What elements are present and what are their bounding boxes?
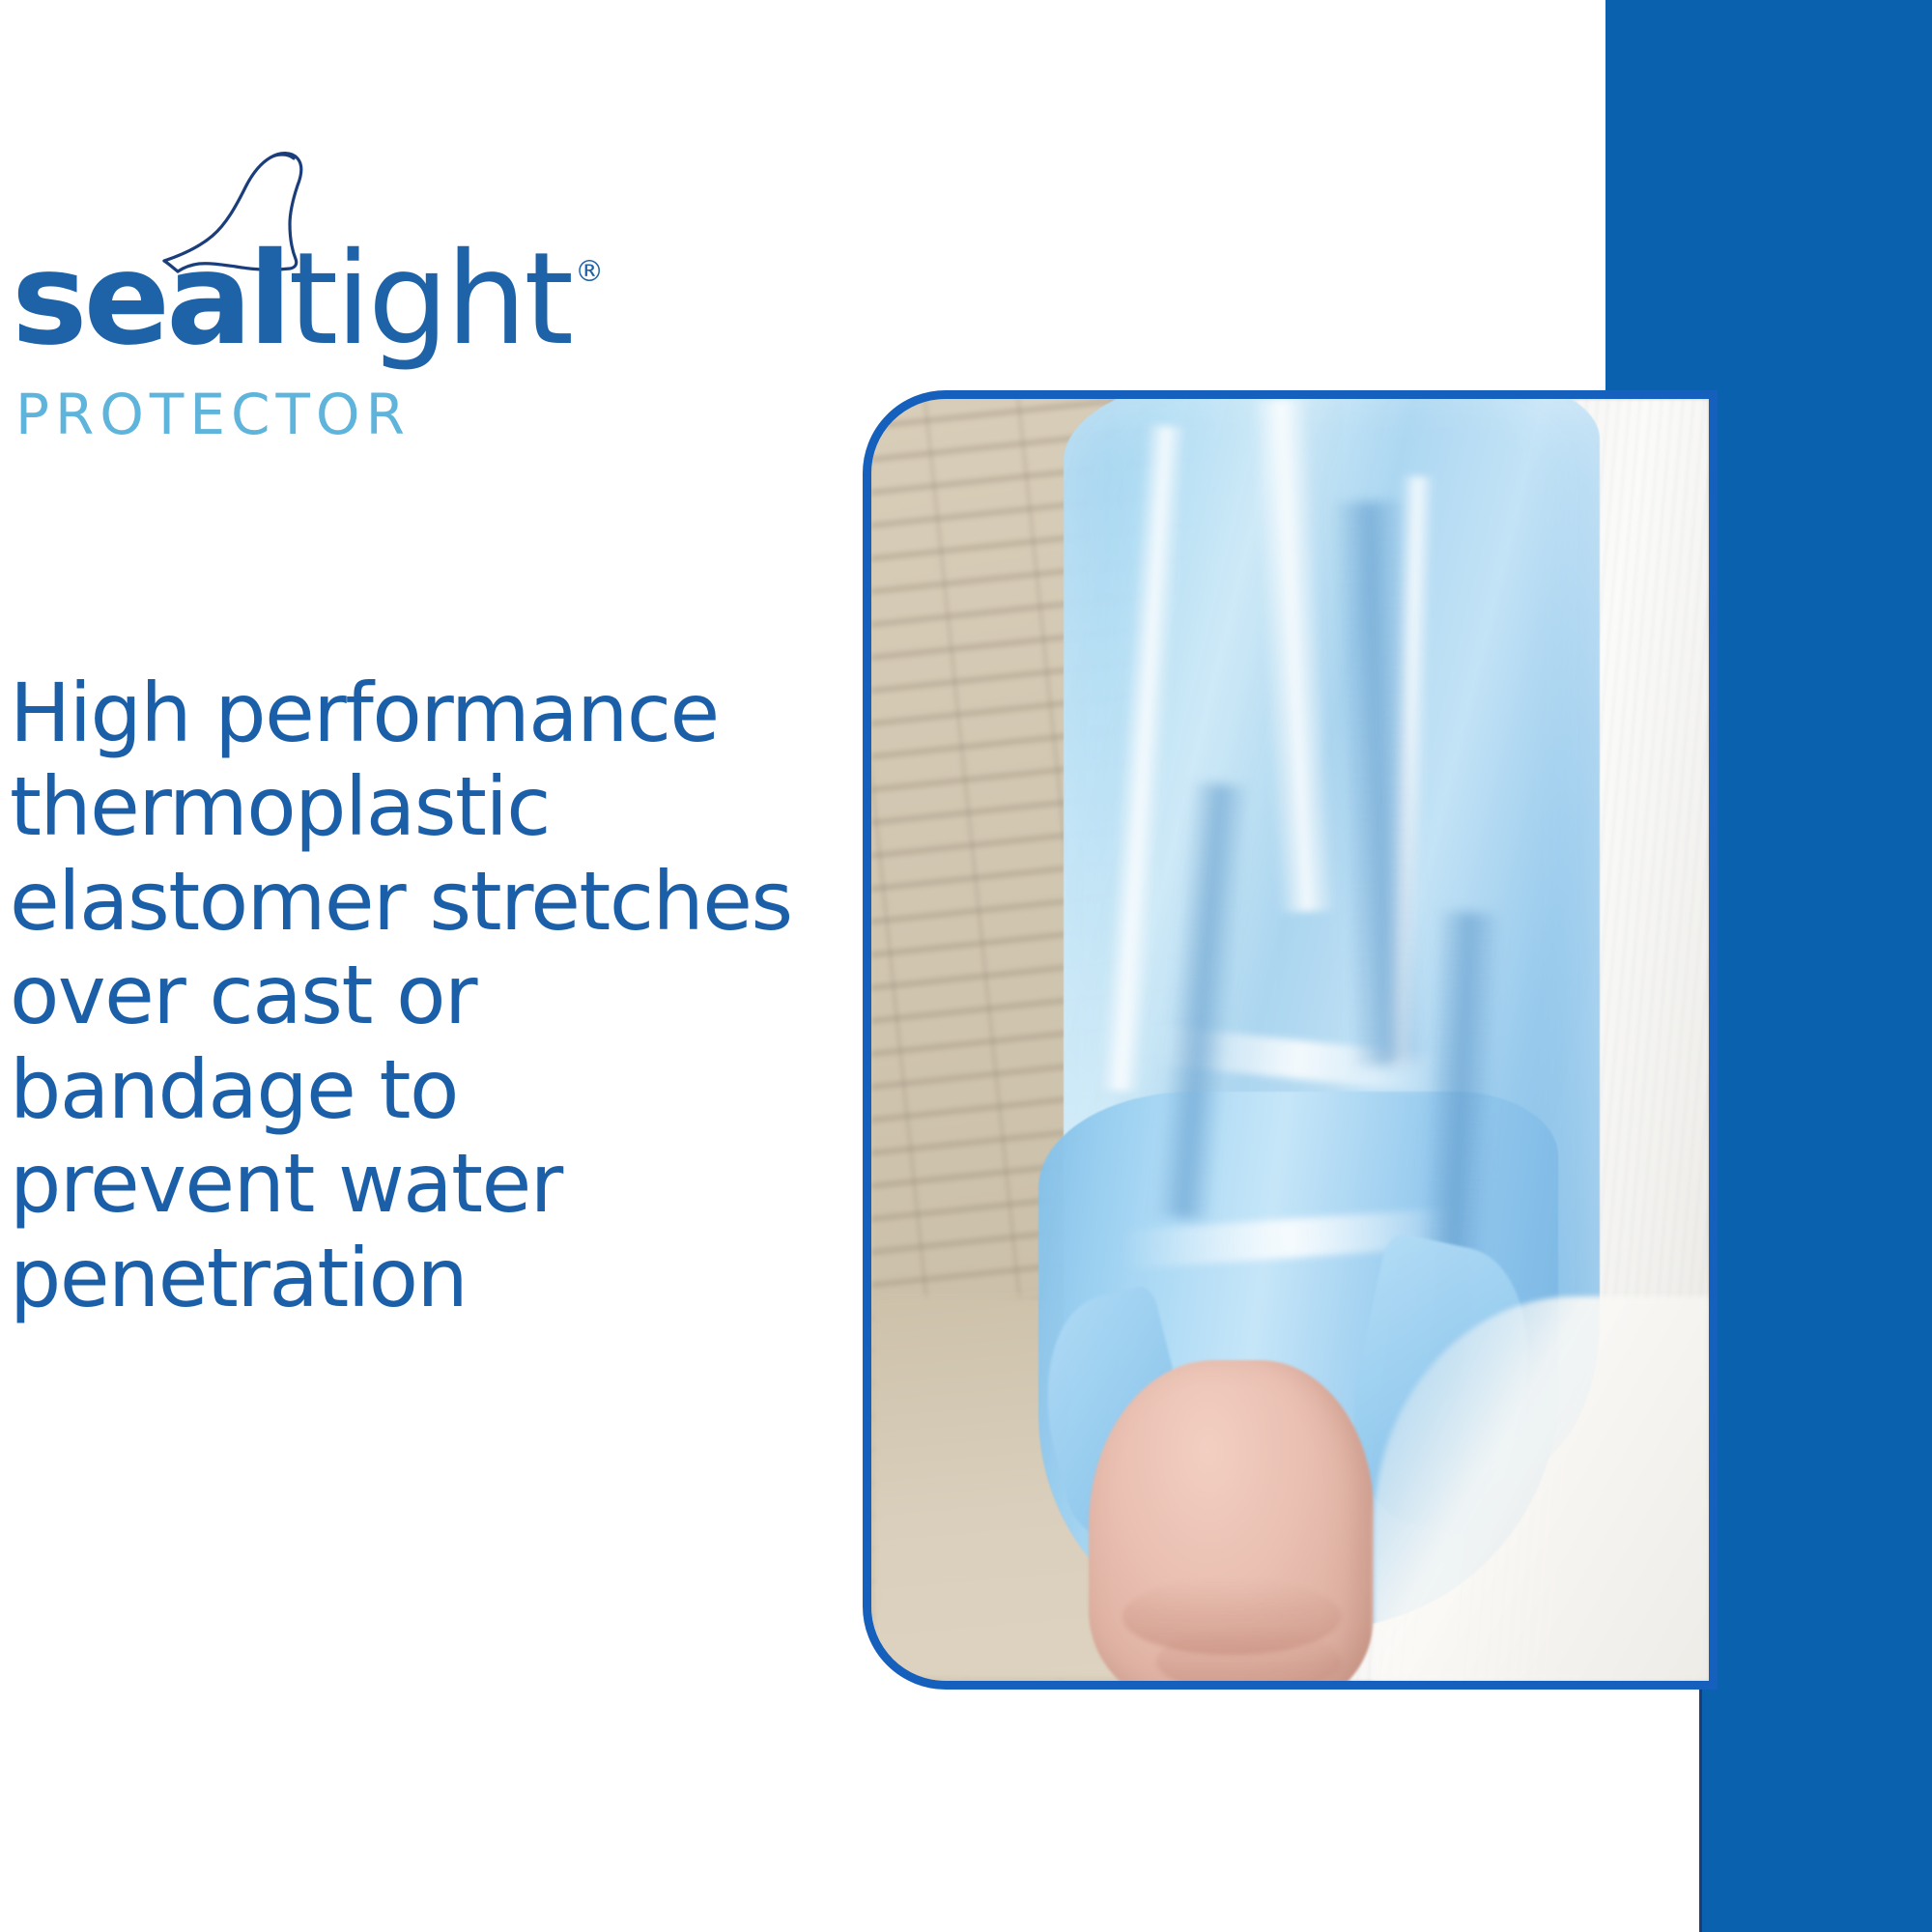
white-corner-notch xyxy=(1605,1686,1702,1932)
product-photo xyxy=(863,390,1718,1690)
headline-text: High performance thermoplastic elastomer… xyxy=(10,667,840,1325)
logo-seal-text: seal xyxy=(12,225,288,374)
logo-subtitle: PROTECTOR xyxy=(15,386,411,442)
registered-trademark-icon: ® xyxy=(575,255,604,289)
headline-line: prevent water xyxy=(10,1137,840,1231)
brand-logo: sealtight® PROTECTOR xyxy=(12,147,630,446)
logo-tight-text: tight xyxy=(288,225,571,374)
headline-line: elastomer stretches xyxy=(10,855,840,949)
headline-line: thermoplastic xyxy=(10,760,840,854)
headline-line: penetration xyxy=(10,1232,840,1325)
logo-wordmark: sealtight® xyxy=(12,236,600,361)
marketing-banner: sealtight® PROTECTOR High performance th… xyxy=(0,0,1932,1932)
product-photo-image xyxy=(871,399,1709,1681)
headline-line: High performance xyxy=(10,667,840,760)
headline-line: bandage to xyxy=(10,1043,840,1137)
headline-line: over cast or xyxy=(10,949,840,1042)
